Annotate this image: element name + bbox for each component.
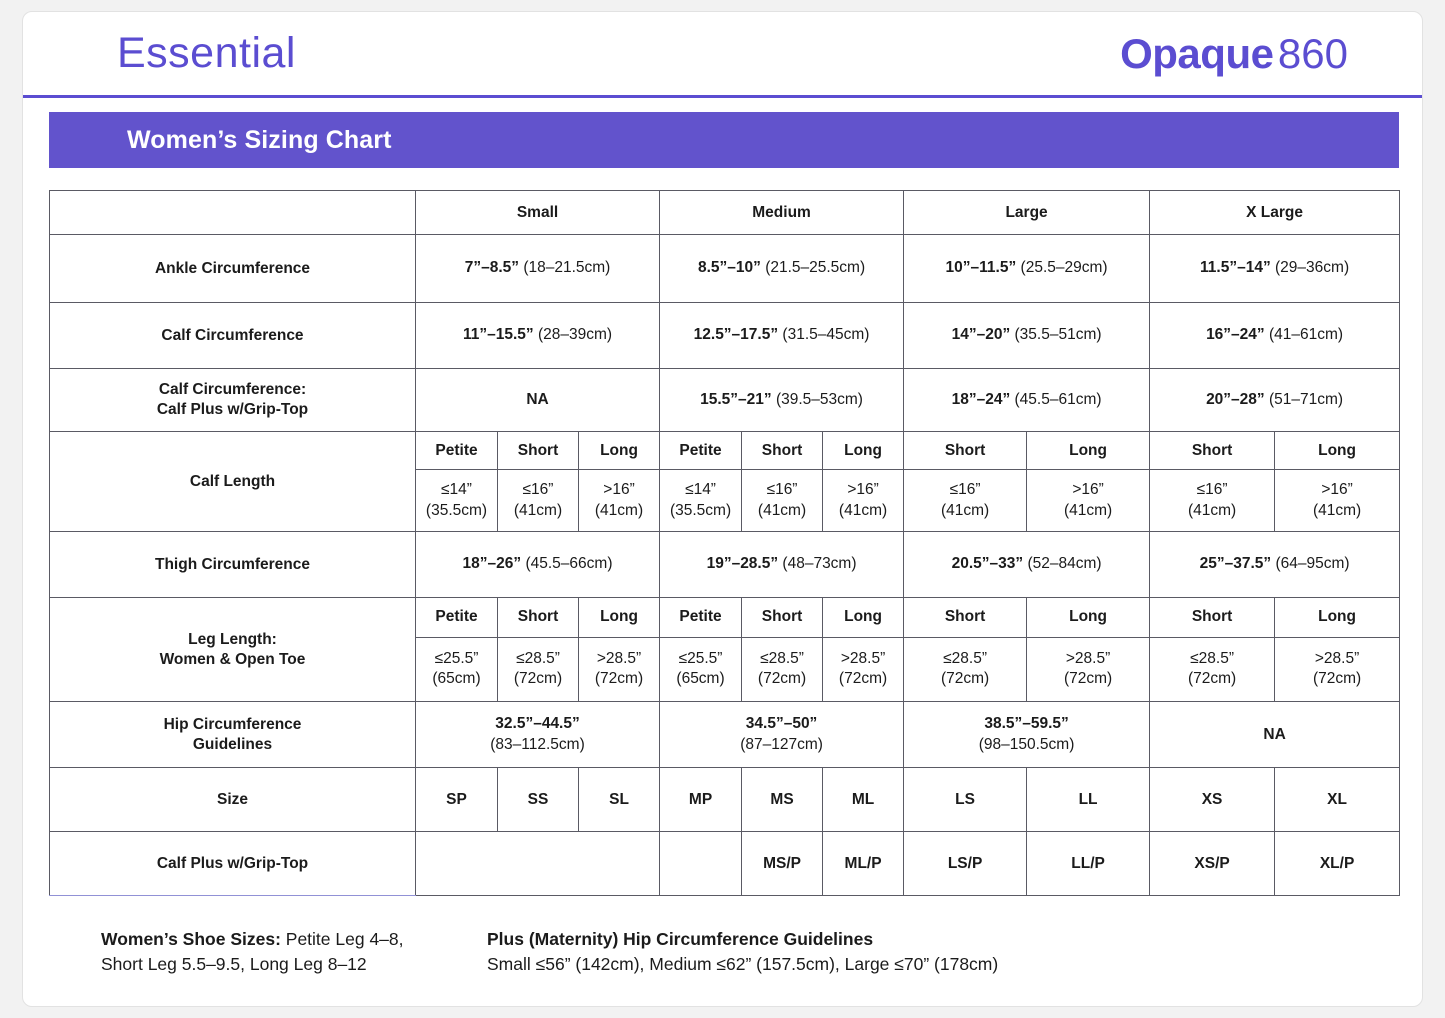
footer-shoe-sizes: Women’s Shoe Sizes: Petite Leg 4–8, Shor… (49, 927, 469, 978)
row-label-thigh-circumference: Thigh Circumference (50, 532, 416, 598)
table-row-calf-length-subhead: Calf Length Petite Short Long Petite Sho… (50, 432, 1400, 470)
cell-calflength-3: ≤14” (35.5cm) (660, 470, 742, 532)
size-code-sp: SP (416, 768, 498, 832)
cell-calflength-9-l2: (41cm) (1275, 501, 1399, 521)
subhead-calflength-0: Petite (416, 432, 498, 470)
cell-calf-small-cm: (28–39cm) (538, 326, 612, 343)
cell-calfplus-large: 18”–24” (45.5–61cm) (904, 369, 1150, 432)
size-code-ml: ML (823, 768, 904, 832)
subhead-calflength-2: Long (579, 432, 660, 470)
subhead-leglength-4: Short (742, 598, 823, 638)
size-code-xl: XL (1275, 768, 1400, 832)
subhead-leglength-2: Long (579, 598, 660, 638)
table-row-calf-plus-circumference: Calf Circumference: Calf Plus w/Grip-Top… (50, 369, 1400, 432)
cell-hip-medium: 34.5”–50” (87–127cm) (660, 702, 904, 768)
calfplus-code-ml-p: ML/P (823, 832, 904, 896)
cell-calflength-5-l2: (41cm) (823, 501, 903, 521)
cell-calflength-4: ≤16” (41cm) (742, 470, 823, 532)
cell-leglength-5-l2: (72cm) (823, 669, 903, 689)
cell-thigh-medium: 19”–28.5” (48–73cm) (660, 532, 904, 598)
cell-calflength-9: >16” (41cm) (1275, 470, 1400, 532)
table-row-leg-length-subhead: Leg Length: Women & Open Toe Petite Shor… (50, 598, 1400, 638)
sizing-chart-card: Essential Opaque 860 Women’s Sizing Char… (22, 11, 1423, 1007)
footer-plus-line: Small ≤56” (142cm), Medium ≤62” (157.5cm… (487, 952, 1349, 977)
cell-leglength-4-l1: ≤28.5” (742, 649, 822, 669)
calfplus-code-mp-blank (660, 832, 742, 896)
row-label-calf-plus-circumference: Calf Circumference: Calf Plus w/Grip-Top (50, 369, 416, 432)
cell-leglength-2-l2: (72cm) (579, 669, 659, 689)
cell-hip-small: 32.5”–44.5” (83–112.5cm) (416, 702, 660, 768)
cell-ankle-xlarge-in: 11.5”–14” (1200, 259, 1271, 276)
cell-calflength-4-l1: ≤16” (742, 480, 822, 500)
table-row-ankle-circumference: Ankle Circumference 7”–8.5” (18–21.5cm) … (50, 235, 1400, 303)
cell-calflength-1-l1: ≤16” (498, 480, 578, 500)
cell-hip-large-l1: 38.5”–59.5” (904, 714, 1149, 735)
cell-thigh-xlarge: 25”–37.5” (64–95cm) (1150, 532, 1400, 598)
cell-ankle-medium-cm: (21.5–25.5cm) (765, 259, 865, 276)
cell-calf-xlarge-in: 16”–24” (1206, 326, 1265, 343)
cell-leglength-6-l2: (72cm) (904, 669, 1026, 689)
subhead-calflength-7: Long (1027, 432, 1150, 470)
row-label-leg-length-line1: Leg Length: (188, 631, 277, 648)
subhead-leglength-0: Petite (416, 598, 498, 638)
row-label-hip-line1: Hip Circumference (164, 716, 302, 733)
cell-leglength-4: ≤28.5” (72cm) (742, 637, 823, 701)
footer-shoe-line1-rest: Petite Leg 4–8, (281, 929, 404, 949)
cell-calf-medium-in: 12.5”–17.5” (694, 326, 778, 343)
footer-plus-title: Plus (Maternity) Hip Circumference Guide… (487, 927, 1349, 952)
footer-shoe-label: Women’s Shoe Sizes: (101, 929, 281, 949)
subhead-calflength-4: Short (742, 432, 823, 470)
cell-calflength-3-l1: ≤14” (660, 480, 741, 500)
cell-calflength-6-l2: (41cm) (904, 501, 1026, 521)
cell-leglength-5-l1: >28.5” (823, 649, 903, 669)
cell-calfplus-large-cm: (45.5–61cm) (1015, 391, 1102, 408)
subhead-leglength-1: Short (498, 598, 579, 638)
cell-thigh-medium-cm: (48–73cm) (782, 555, 856, 572)
calfplus-code-ll-p: LL/P (1027, 832, 1150, 896)
table-row-size: Size SP SS SL MP MS ML LS LL XS XL (50, 768, 1400, 832)
row-label-hip-line2: Guidelines (193, 736, 272, 753)
cell-hip-small-l1: 32.5”–44.5” (416, 714, 659, 735)
calfplus-code-small-blank (416, 832, 660, 896)
cell-calflength-8: ≤16” (41cm) (1150, 470, 1275, 532)
cell-leglength-0-l2: (65cm) (416, 669, 497, 689)
cell-hip-medium-l1: 34.5”–50” (660, 714, 903, 735)
subhead-calflength-5: Long (823, 432, 904, 470)
footer-plus-title-text: Plus (Maternity) Hip Circumference Guide… (487, 929, 873, 949)
footer-shoe-line1: Women’s Shoe Sizes: Petite Leg 4–8, (101, 927, 469, 952)
group-header-row: Small Medium Large X Large (50, 191, 1400, 235)
cell-calfplus-xlarge-in: 20”–28” (1206, 391, 1265, 408)
cell-calfplus-small: NA (416, 369, 660, 432)
cell-leglength-3-l1: ≤25.5” (660, 649, 741, 669)
cell-leglength-1-l2: (72cm) (498, 669, 578, 689)
size-code-ms: MS (742, 768, 823, 832)
cell-calfplus-xlarge: 20”–28” (51–71cm) (1150, 369, 1400, 432)
cell-calflength-5: >16” (41cm) (823, 470, 904, 532)
product-name: Opaque 860 (1120, 30, 1348, 78)
subhead-calflength-3: Petite (660, 432, 742, 470)
size-code-ss: SS (498, 768, 579, 832)
cell-calfplus-small-in: NA (526, 391, 548, 408)
cell-ankle-large: 10”–11.5” (25.5–29cm) (904, 235, 1150, 303)
cell-leglength-7: >28.5” (72cm) (1027, 637, 1150, 701)
cell-hip-large-l2: (98–150.5cm) (904, 735, 1149, 756)
page-title: Women’s Sizing Chart (127, 126, 392, 155)
cell-calflength-4-l2: (41cm) (742, 501, 822, 521)
cell-leglength-2: >28.5” (72cm) (579, 637, 660, 701)
cell-calflength-2: >16” (41cm) (579, 470, 660, 532)
subhead-calflength-9: Long (1275, 432, 1400, 470)
cell-calf-xlarge-cm: (41–61cm) (1269, 326, 1343, 343)
cell-ankle-small-in: 7”–8.5” (465, 259, 519, 276)
brand-name-essential: Essential (117, 29, 296, 78)
cell-calf-large: 14”–20” (35.5–51cm) (904, 303, 1150, 369)
cell-leglength-6: ≤28.5” (72cm) (904, 637, 1027, 701)
brand-header: Essential Opaque 860 (23, 12, 1423, 98)
cell-leglength-5: >28.5” (72cm) (823, 637, 904, 701)
cell-calf-small: 11”–15.5” (28–39cm) (416, 303, 660, 369)
row-label-size: Size (50, 768, 416, 832)
sizing-table: Small Medium Large X Large Ankle Circumf… (49, 190, 1400, 896)
cell-ankle-large-cm: (25.5–29cm) (1021, 259, 1108, 276)
group-header-spacer (50, 191, 416, 235)
cell-ankle-medium-in: 8.5”–10” (698, 259, 761, 276)
table-row-calf-circumference: Calf Circumference 11”–15.5” (28–39cm) 1… (50, 303, 1400, 369)
cell-thigh-small: 18”–26” (45.5–66cm) (416, 532, 660, 598)
cell-calflength-0-l1: ≤14” (416, 480, 497, 500)
cell-calflength-0-l2: (35.5cm) (416, 501, 497, 521)
title-banner: Women’s Sizing Chart (49, 112, 1399, 168)
row-label-calf-plus-line1: Calf Circumference: (159, 381, 306, 398)
footer-shoe-line2: Short Leg 5.5–9.5, Long Leg 8–12 (101, 952, 469, 977)
size-code-ls: LS (904, 768, 1027, 832)
row-label-hip-circumference: Hip Circumference Guidelines (50, 702, 416, 768)
subhead-leglength-7: Long (1027, 598, 1150, 638)
calfplus-code-ms-p: MS/P (742, 832, 823, 896)
subhead-leglength-6: Short (904, 598, 1027, 638)
cell-ankle-small: 7”–8.5” (18–21.5cm) (416, 235, 660, 303)
calfplus-code-xs-p: XS/P (1150, 832, 1275, 896)
footer-notes: Women’s Shoe Sizes: Petite Leg 4–8, Shor… (49, 927, 1399, 978)
size-code-sl: SL (579, 768, 660, 832)
calfplus-code-xl-p: XL/P (1275, 832, 1400, 896)
cell-calf-medium: 12.5”–17.5” (31.5–45cm) (660, 303, 904, 369)
cell-leglength-6-l1: ≤28.5” (904, 649, 1026, 669)
cell-calflength-7-l2: (41cm) (1027, 501, 1149, 521)
cell-calf-large-in: 14”–20” (952, 326, 1011, 343)
cell-calf-medium-cm: (31.5–45cm) (782, 326, 869, 343)
cell-leglength-8: ≤28.5” (72cm) (1150, 637, 1275, 701)
row-label-calf-length: Calf Length (50, 432, 416, 532)
cell-calfplus-large-in: 18”–24” (952, 391, 1011, 408)
group-header-large: Large (904, 191, 1150, 235)
cell-calflength-6: ≤16” (41cm) (904, 470, 1027, 532)
row-label-calf-plus-line2: Calf Plus w/Grip-Top (157, 401, 308, 418)
cell-leglength-9-l1: >28.5” (1275, 649, 1399, 669)
cell-calflength-7-l1: >16” (1027, 480, 1149, 500)
cell-leglength-1: ≤28.5” (72cm) (498, 637, 579, 701)
size-code-mp: MP (660, 768, 742, 832)
subhead-calflength-6: Short (904, 432, 1027, 470)
cell-thigh-xlarge-in: 25”–37.5” (1200, 555, 1272, 572)
cell-calflength-8-l2: (41cm) (1150, 501, 1274, 521)
cell-leglength-1-l1: ≤28.5” (498, 649, 578, 669)
table-row-hip-circumference: Hip Circumference Guidelines 32.5”–44.5”… (50, 702, 1400, 768)
row-label-leg-length: Leg Length: Women & Open Toe (50, 598, 416, 702)
cell-leglength-3: ≤25.5” (65cm) (660, 637, 742, 701)
cell-calflength-9-l1: >16” (1275, 480, 1399, 500)
cell-calfplus-medium-cm: (39.5–53cm) (776, 391, 863, 408)
cell-leglength-2-l1: >28.5” (579, 649, 659, 669)
size-code-ll: LL (1027, 768, 1150, 832)
cell-calflength-2-l2: (41cm) (579, 501, 659, 521)
product-name-opaque: Opaque (1120, 30, 1273, 77)
cell-hip-xlarge: NA (1150, 702, 1400, 768)
cell-thigh-large: 20.5”–33” (52–84cm) (904, 532, 1150, 598)
cell-calf-small-in: 11”–15.5” (463, 326, 534, 343)
cell-calflength-7: >16” (41cm) (1027, 470, 1150, 532)
cell-calfplus-xlarge-cm: (51–71cm) (1269, 391, 1343, 408)
cell-thigh-large-in: 20.5”–33” (952, 555, 1024, 572)
cell-ankle-xlarge: 11.5”–14” (29–36cm) (1150, 235, 1400, 303)
cell-calflength-2-l1: >16” (579, 480, 659, 500)
cell-thigh-large-cm: (52–84cm) (1027, 555, 1101, 572)
cell-leglength-8-l1: ≤28.5” (1150, 649, 1274, 669)
cell-thigh-xlarge-cm: (64–95cm) (1275, 555, 1349, 572)
size-code-xs: XS (1150, 768, 1275, 832)
footer-plus-maternity: Plus (Maternity) Hip Circumference Guide… (469, 927, 1349, 978)
subhead-leglength-5: Long (823, 598, 904, 638)
subhead-calflength-1: Short (498, 432, 579, 470)
subhead-leglength-9: Long (1275, 598, 1400, 638)
cell-calflength-1: ≤16” (41cm) (498, 470, 579, 532)
sizing-table-wrapper: Small Medium Large X Large Ankle Circumf… (49, 190, 1399, 896)
row-label-calf-circumference: Calf Circumference (50, 303, 416, 369)
cell-leglength-9: >28.5” (72cm) (1275, 637, 1400, 701)
subhead-leglength-8: Short (1150, 598, 1275, 638)
row-label-ankle-circumference: Ankle Circumference (50, 235, 416, 303)
cell-leglength-7-l2: (72cm) (1027, 669, 1149, 689)
cell-thigh-small-cm: (45.5–66cm) (525, 555, 612, 572)
cell-thigh-medium-in: 19”–28.5” (707, 555, 779, 572)
cell-hip-large: 38.5”–59.5” (98–150.5cm) (904, 702, 1150, 768)
cell-leglength-3-l2: (65cm) (660, 669, 741, 689)
calfplus-code-ls-p: LS/P (904, 832, 1027, 896)
cell-ankle-large-in: 10”–11.5” (946, 259, 1017, 276)
table-row-thigh-circumference: Thigh Circumference 18”–26” (45.5–66cm) … (50, 532, 1400, 598)
cell-ankle-medium: 8.5”–10” (21.5–25.5cm) (660, 235, 904, 303)
cell-leglength-4-l2: (72cm) (742, 669, 822, 689)
cell-calfplus-medium: 15.5”–21” (39.5–53cm) (660, 369, 904, 432)
cell-calflength-6-l1: ≤16” (904, 480, 1026, 500)
subhead-leglength-3: Petite (660, 598, 742, 638)
cell-calflength-3-l2: (35.5cm) (660, 501, 741, 521)
cell-leglength-9-l2: (72cm) (1275, 669, 1399, 689)
cell-leglength-0: ≤25.5” (65cm) (416, 637, 498, 701)
product-number: 860 (1278, 30, 1348, 77)
cell-ankle-small-cm: (18–21.5cm) (523, 259, 610, 276)
group-header-medium: Medium (660, 191, 904, 235)
cell-calflength-0: ≤14” (35.5cm) (416, 470, 498, 532)
cell-calfplus-medium-in: 15.5”–21” (700, 391, 772, 408)
cell-calflength-8-l1: ≤16” (1150, 480, 1274, 500)
group-header-small: Small (416, 191, 660, 235)
cell-calflength-1-l2: (41cm) (498, 501, 578, 521)
cell-hip-small-l2: (83–112.5cm) (416, 735, 659, 756)
subhead-calflength-8: Short (1150, 432, 1275, 470)
group-header-xlarge: X Large (1150, 191, 1400, 235)
row-label-leg-length-line2: Women & Open Toe (160, 651, 306, 668)
cell-calf-large-cm: (35.5–51cm) (1015, 326, 1102, 343)
cell-calflength-5-l1: >16” (823, 480, 903, 500)
cell-leglength-7-l1: >28.5” (1027, 649, 1149, 669)
cell-leglength-8-l2: (72cm) (1150, 669, 1274, 689)
cell-thigh-small-in: 18”–26” (463, 555, 522, 572)
cell-calf-xlarge: 16”–24” (41–61cm) (1150, 303, 1400, 369)
cell-leglength-0-l1: ≤25.5” (416, 649, 497, 669)
cell-hip-medium-l2: (87–127cm) (660, 735, 903, 756)
row-label-calf-plus-grip-top: Calf Plus w/Grip-Top (50, 832, 416, 896)
table-row-calf-plus-grip-top: Calf Plus w/Grip-Top MS/P ML/P LS/P LL/P… (50, 832, 1400, 896)
cell-ankle-xlarge-cm: (29–36cm) (1275, 259, 1349, 276)
